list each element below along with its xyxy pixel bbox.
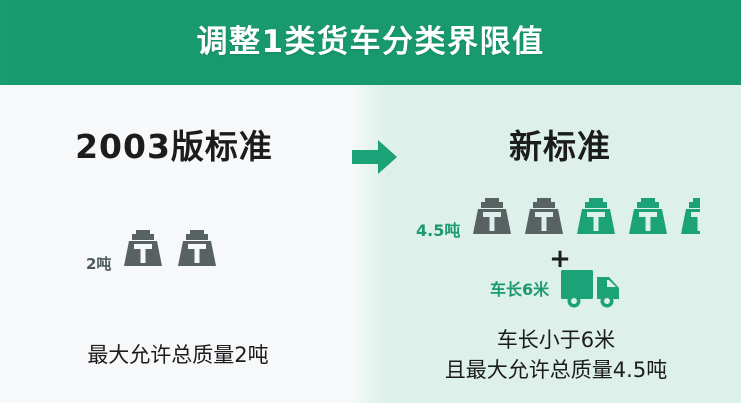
panel-divider-gradient [352, 85, 388, 403]
right-arrow-icon [348, 137, 400, 177]
page-title: 调整1类货车分类界限值 [0, 0, 741, 85]
infographic-canvas: 调整1类货车分类界限值 2003版标准 新标准 2吨 [0, 0, 741, 403]
footer-new-line2: 且最大允许总质量4.5吨 [386, 355, 726, 385]
truck-row: 车长6米 [490, 268, 670, 312]
heading-new-standard: 新标准 [390, 130, 730, 163]
truck-icon [559, 266, 629, 314]
weight-icon [173, 224, 221, 276]
footer-new-line1: 车长小于6米 [386, 325, 726, 355]
truck-length-label: 车长6米 [490, 282, 549, 298]
new-standard-weights-row: 4.5吨 [416, 192, 704, 244]
header-banner: 调整1类货车分类界限值 [0, 0, 741, 85]
weight-icon-green-half [676, 192, 700, 244]
old-standard-weights-row: 2吨 [86, 224, 276, 276]
weight-icon-green-1 [572, 192, 620, 244]
weight-icon [119, 224, 167, 276]
footer-new-standard: 车长小于6米 且最大允许总质量4.5吨 [386, 325, 726, 385]
new-weight-label: 4.5吨 [416, 223, 460, 239]
weight-icon-gray-2 [520, 192, 568, 244]
weight-icon-gray-1 [468, 192, 516, 244]
footer-old-standard: 最大允许总质量2吨 [0, 340, 356, 370]
heading-old-standard: 2003版标准 [0, 130, 348, 163]
old-weight-label: 2吨 [86, 257, 111, 272]
weight-icon-green-2 [624, 192, 672, 244]
